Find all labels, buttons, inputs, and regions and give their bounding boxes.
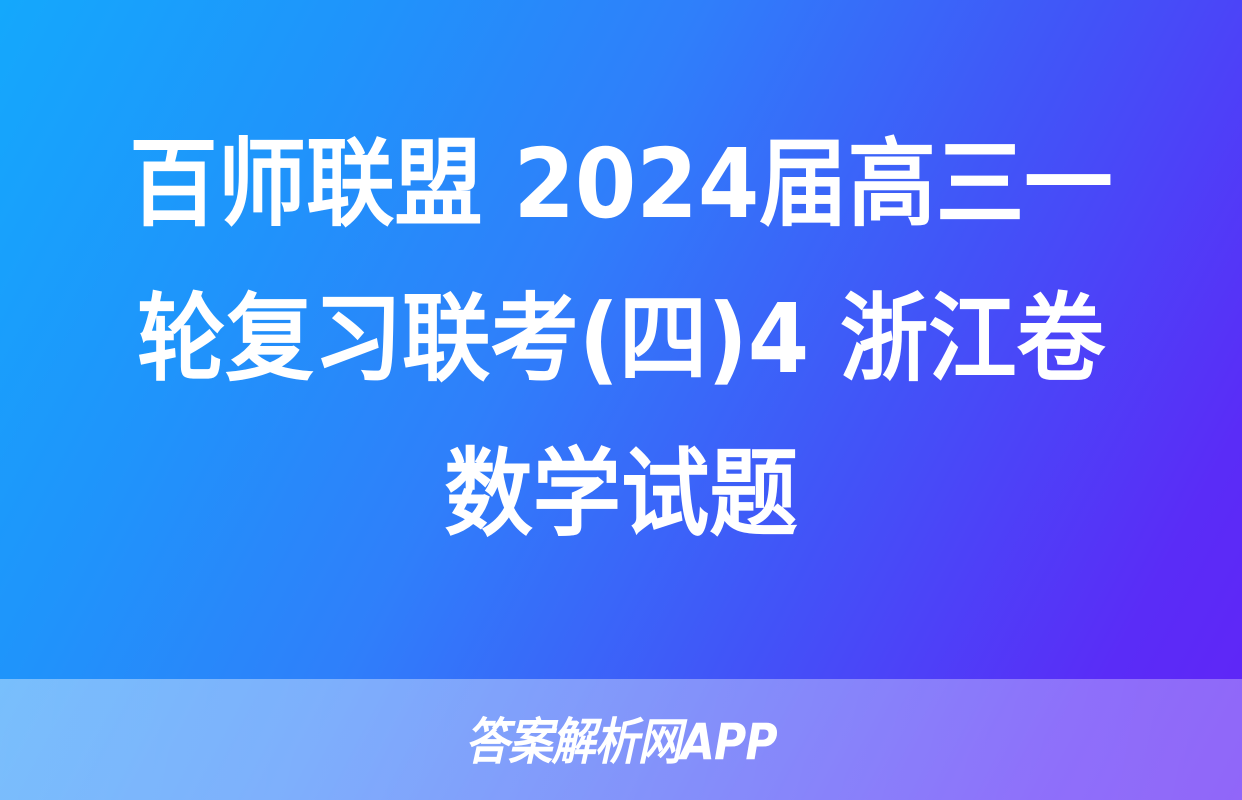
- app-brand-label: 答案解析网APP: [465, 717, 777, 767]
- footer-brand-band: 答案解析网APP: [0, 679, 1242, 800]
- page-title: 百师联盟 2024届高三一轮复习联考(四)4 浙江卷数学试题: [116, 107, 1126, 572]
- hero-section: 百师联盟 2024届高三一轮复习联考(四)4 浙江卷数学试题: [0, 0, 1242, 679]
- exam-title-card: 百师联盟 2024届高三一轮复习联考(四)4 浙江卷数学试题 答案解析网APP: [0, 0, 1242, 800]
